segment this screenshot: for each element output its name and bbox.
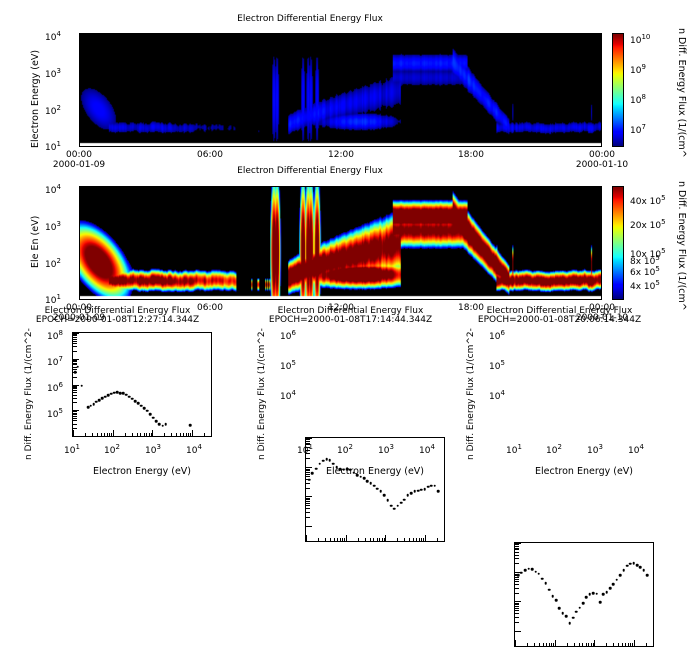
mid-ytick-1-base: 10: [45, 296, 56, 306]
data-point: [561, 612, 564, 615]
bottom-left-xtick-2: 102: [104, 443, 120, 456]
bottom-right-xtick-2: 102: [546, 443, 562, 456]
bottom-right-xtick-4: 104: [628, 443, 644, 456]
y-minor-tick: [73, 392, 77, 393]
mid-colorbar-label: n Diff. Energy Flux (1/(cm^: [676, 181, 687, 311]
top-colorbar[interactable]: [612, 33, 624, 147]
top-panel-title: Electron Differential Energy Flux: [0, 14, 620, 24]
x-minor-tick: [591, 643, 592, 647]
bl-xt3-exp: 3: [156, 443, 160, 451]
x-minor-tick: [397, 538, 398, 542]
top-cb-t3-exp: 9: [641, 63, 645, 71]
x-minor-tick: [419, 538, 420, 542]
top-ytick-1: 101: [45, 140, 61, 153]
bottom-center-xtick-3: 103: [378, 443, 394, 456]
bottom-center-ytick-6: 105: [280, 359, 296, 372]
mid-ytick-1: 101: [45, 293, 61, 306]
bottom-left-subtitle: EPOCH=2000-01-08T12:27:14.344Z: [10, 315, 225, 325]
y-minor-tick: [73, 428, 77, 429]
data-point: [589, 593, 592, 596]
mid-colorbar-tick-4: 4x 105: [630, 279, 660, 292]
x-minor-tick: [606, 643, 607, 647]
data-point: [164, 423, 167, 426]
mid-ytick-2: 102: [45, 257, 61, 270]
bottom-right-ylabel: n Diff. Energy Flux (1/(cm^2-: [466, 328, 476, 460]
top-cb-t3-base: 10: [630, 66, 641, 76]
x-minor-tick: [337, 538, 338, 542]
data-point: [531, 568, 534, 571]
top-ytick-3-exp: 3: [56, 67, 60, 75]
top-ytick-3-base: 10: [45, 70, 56, 80]
bottom-right-xtick-1: 101: [506, 443, 522, 456]
data-point: [616, 578, 619, 581]
br-xt3-base: 10: [587, 446, 598, 456]
top-colorbar-label-wrap: n Diff. Energy Flux (1/(cm^: [687, 28, 697, 39]
bc-yt1-base: 10: [280, 392, 291, 402]
data-point: [582, 602, 585, 605]
bottom-left-xtick-3: 103: [145, 443, 161, 456]
bottom-right-ytick-6: 105: [489, 359, 505, 372]
mid-cb-t3-exp: 5: [655, 254, 659, 262]
data-point: [390, 504, 393, 507]
bottom-center-subtitle: EPOCH=2000-01-08T17:14:44.344Z: [243, 315, 458, 325]
x-minor-tick: [409, 538, 410, 542]
bl-yt2-base: 10: [47, 384, 58, 394]
x-minor-tick: [582, 643, 583, 647]
data-point: [646, 574, 649, 577]
data-point: [568, 622, 571, 625]
y-minor-tick: [515, 593, 519, 594]
bottom-center-ylabel: n Diff. Energy Flux (1/(cm^2-: [257, 328, 267, 460]
x-minor-tick: [586, 643, 587, 647]
y-minor-tick: [73, 385, 79, 386]
y-minor-tick: [306, 505, 310, 506]
data-point: [420, 488, 423, 491]
y-minor-tick: [306, 503, 310, 504]
br-xt2-exp: 2: [557, 443, 561, 451]
mid-cb-t6-base: 40x 10: [630, 197, 661, 207]
bl-yt1-exp: 5: [58, 407, 62, 415]
data-point: [534, 570, 537, 573]
y-minor-tick: [306, 458, 310, 459]
data-point: [308, 478, 311, 481]
data-point: [380, 490, 383, 493]
y-minor-tick: [515, 546, 519, 547]
br-xt1-exp: 1: [517, 443, 521, 451]
mid-ytick-3-exp: 3: [56, 220, 60, 228]
y-minor-tick: [73, 398, 77, 399]
x-minor-tick: [330, 538, 331, 542]
x-minor-tick: [546, 643, 547, 647]
data-point: [555, 599, 558, 602]
bottom-center-xtick-4: 104: [419, 443, 435, 456]
y-minor-tick: [515, 613, 519, 614]
bottom-left-xtick-1: 101: [64, 443, 80, 456]
data-point: [602, 593, 605, 596]
x-minor-tick: [444, 538, 445, 542]
data-point: [572, 616, 575, 619]
x-minor-tick: [634, 640, 635, 646]
bl-yt1-base: 10: [47, 410, 58, 420]
y-minor-tick: [306, 441, 310, 442]
bc-xt1-base: 10: [297, 446, 308, 456]
x-minor-tick: [346, 535, 347, 541]
data-point: [585, 596, 588, 599]
x-minor-tick: [144, 433, 145, 437]
bc-yt2-base: 10: [280, 362, 291, 372]
data-point: [565, 615, 568, 618]
bottom-center-xtick-2: 102: [337, 443, 353, 456]
top-cb-t4-base: 10: [630, 36, 641, 46]
top-spectrogram-plot[interactable]: [79, 33, 602, 147]
y-minor-tick: [515, 577, 519, 578]
x-minor-tick: [171, 433, 172, 437]
mid-cb-t5-base: 20x 10: [630, 221, 661, 231]
y-minor-tick: [73, 369, 77, 370]
y-minor-tick: [306, 498, 310, 499]
x-minor-tick: [137, 433, 138, 437]
data-point: [545, 582, 548, 585]
top-ytick-1-base: 10: [45, 143, 56, 153]
bl-xt4-base: 10: [186, 446, 197, 456]
x-minor-tick: [318, 538, 319, 542]
x-minor-tick: [534, 643, 535, 647]
data-point: [376, 487, 379, 490]
y-minor-tick: [515, 606, 519, 607]
y-minor-tick: [73, 424, 77, 425]
mid-cb-t6-exp: 5: [661, 194, 665, 202]
x-minor-tick: [180, 433, 181, 437]
bc-xt3-base: 10: [378, 446, 389, 456]
bottom-right-xtick-3: 103: [587, 443, 603, 456]
figure-canvas: Electron Differential Energy Flux Electr…: [0, 0, 697, 492]
data-point: [605, 591, 608, 594]
data-point: [527, 568, 530, 571]
data-point: [517, 574, 520, 577]
y-minor-tick: [73, 337, 77, 338]
x-minor-tick: [404, 538, 405, 542]
bottom-right-xlabel: Electron Energy (eV): [514, 466, 654, 477]
data-point: [599, 601, 602, 604]
x-minor-tick: [365, 538, 366, 542]
x-minor-tick: [192, 430, 193, 436]
data-point: [643, 569, 646, 572]
mid-spectrogram-plot[interactable]: [79, 186, 602, 300]
top-xtick-5: 00:00: [589, 150, 615, 160]
mid-panel-title: Electron Differential Energy Flux: [0, 166, 620, 176]
data-point: [520, 572, 523, 575]
x-minor-tick: [567, 643, 568, 647]
bc-xt2-base: 10: [337, 446, 348, 456]
y-minor-tick: [306, 496, 312, 497]
x-minor-tick: [101, 433, 102, 437]
top-xtick-1: 00:00: [66, 150, 92, 160]
y-minor-tick: [515, 601, 521, 602]
bottom-right-plot[interactable]: [514, 542, 654, 647]
x-minor-tick: [574, 643, 575, 647]
y-minor-tick: [515, 603, 519, 604]
data-point: [413, 490, 416, 493]
data-point: [332, 463, 335, 466]
y-minor-tick: [515, 608, 519, 609]
bottom-left-ytick-8: 108: [47, 329, 63, 342]
x-minor-tick: [543, 643, 544, 647]
x-minor-tick: [646, 643, 647, 647]
data-point: [373, 485, 376, 488]
data-point: [609, 587, 612, 590]
y-minor-tick: [73, 395, 77, 396]
y-minor-tick: [73, 343, 77, 344]
x-minor-tick: [104, 433, 105, 437]
data-point: [363, 477, 366, 480]
data-point: [152, 416, 155, 419]
bl-xt1-base: 10: [64, 446, 75, 456]
bottom-left-ytick-5: 105: [47, 407, 63, 420]
data-point: [80, 384, 83, 387]
top-colorbar-tick-2: 108: [630, 93, 646, 106]
mid-ytick-3-base: 10: [45, 223, 56, 233]
y-minor-tick: [515, 558, 519, 559]
data-point: [632, 562, 635, 565]
y-minor-tick: [306, 483, 310, 484]
bc-xt4-exp: 4: [430, 443, 434, 451]
y-minor-tick: [73, 386, 77, 387]
bottom-left-plot[interactable]: [72, 332, 212, 437]
br-xt4-exp: 4: [639, 443, 643, 451]
data-point: [558, 607, 561, 610]
y-minor-tick: [306, 488, 310, 489]
x-minor-tick: [625, 643, 626, 647]
data-point: [189, 424, 192, 427]
top-xtick-2: 06:00: [197, 150, 223, 160]
data-point: [430, 485, 433, 488]
x-minor-tick: [373, 538, 374, 542]
y-minor-tick: [73, 346, 77, 347]
y-minor-tick: [515, 549, 519, 550]
data-point: [578, 606, 581, 609]
x-minor-tick: [211, 433, 212, 437]
mid-ytick-1-exp: 1: [56, 293, 60, 301]
mid-colorbar[interactable]: [612, 186, 624, 300]
data-point: [524, 569, 527, 572]
x-minor-tick: [125, 433, 126, 437]
x-minor-tick: [613, 643, 614, 647]
x-minor-tick: [188, 433, 189, 437]
bottom-right-ytick-7: 106: [489, 329, 505, 342]
y-minor-tick: [515, 579, 519, 580]
y-minor-tick: [515, 548, 519, 549]
y-minor-tick: [306, 501, 310, 502]
y-minor-tick: [73, 418, 77, 419]
y-minor-tick: [73, 351, 77, 352]
x-minor-tick: [370, 538, 371, 542]
data-point: [383, 494, 386, 497]
x-minor-tick: [618, 643, 619, 647]
y-minor-tick: [515, 604, 519, 605]
y-minor-tick: [73, 402, 77, 403]
x-minor-tick: [183, 433, 184, 437]
mid-cb-t5-exp: 5: [661, 218, 665, 226]
x-minor-tick: [551, 643, 552, 647]
data-point: [74, 371, 77, 374]
data-point: [595, 592, 598, 595]
bl-yt3-base: 10: [47, 358, 58, 368]
br-xt3-exp: 3: [598, 443, 602, 451]
mid-cb-t2-base: 6x 10: [630, 268, 655, 278]
bl-yt4-base: 10: [47, 332, 58, 342]
x-minor-tick: [413, 538, 414, 542]
br-xt1-base: 10: [506, 446, 517, 456]
data-point: [366, 480, 369, 483]
x-minor-tick: [176, 433, 177, 437]
top-xtick-3: 12:00: [328, 150, 354, 160]
bl-xt2-base: 10: [104, 446, 115, 456]
x-minor-tick: [630, 643, 631, 647]
mid-ytick-2-base: 10: [45, 260, 56, 270]
x-minor-tick: [515, 640, 516, 646]
mid-cb-t1-exp: 5: [655, 279, 659, 287]
top-cb-t2-base: 10: [630, 96, 641, 106]
data-point: [639, 566, 642, 569]
y-minor-tick: [515, 617, 519, 618]
y-minor-tick: [515, 544, 519, 545]
x-minor-tick: [385, 535, 386, 541]
x-minor-tick: [85, 433, 86, 437]
y-minor-tick: [73, 413, 77, 414]
bl-xt2-exp: 2: [115, 443, 119, 451]
mid-colorbar-tick-6: 6x 105: [630, 265, 660, 278]
data-point: [400, 501, 403, 504]
mid-cb-t4-exp: 5: [661, 247, 665, 255]
x-minor-tick: [527, 643, 528, 647]
y-minor-tick: [73, 339, 77, 340]
top-panel-ylabel: Electron Energy (eV): [30, 50, 41, 148]
bc-xt3-exp: 3: [389, 443, 393, 451]
bl-yt3-exp: 7: [58, 355, 62, 363]
x-minor-tick: [628, 643, 629, 647]
y-minor-tick: [515, 581, 519, 582]
y-minor-tick: [73, 361, 77, 362]
y-minor-tick: [515, 622, 519, 623]
data-point: [427, 485, 430, 488]
y-minor-tick: [515, 584, 519, 585]
x-minor-tick: [107, 433, 108, 437]
y-minor-tick: [73, 335, 77, 336]
mid-cb-t2-exp: 5: [655, 265, 659, 273]
y-minor-tick: [73, 414, 77, 415]
bottom-right-subtitle: EPOCH=2000-01-08T20:06:14.344Z: [452, 315, 667, 325]
data-point: [551, 595, 554, 598]
x-minor-tick: [416, 538, 417, 542]
br-yt3-exp: 6: [500, 329, 504, 337]
data-point: [619, 574, 622, 577]
bc-xt2-exp: 2: [348, 443, 352, 451]
x-minor-tick: [539, 643, 540, 647]
br-xt2-base: 10: [546, 446, 557, 456]
x-minor-tick: [113, 430, 114, 436]
top-ytick-3: 103: [45, 67, 61, 80]
y-minor-tick: [306, 517, 310, 518]
y-minor-tick: [515, 552, 519, 553]
data-point: [318, 463, 321, 466]
x-minor-tick: [140, 433, 141, 437]
y-minor-tick: [73, 420, 77, 421]
mid-panel-ylabel: Ele En (eV): [30, 216, 41, 268]
bottom-right-ytick-5: 104: [489, 389, 505, 402]
data-point: [325, 458, 328, 461]
bl-yt2-exp: 6: [58, 381, 62, 389]
top-ytick-2: 102: [45, 104, 61, 117]
y-minor-tick: [515, 610, 519, 611]
bl-xt4-exp: 4: [197, 443, 201, 451]
x-minor-tick: [379, 538, 380, 542]
bottom-left-xtick-4: 104: [186, 443, 202, 456]
y-minor-tick: [306, 526, 312, 527]
mid-ytick-4: 104: [45, 183, 61, 196]
bottom-left-xlabel: Electron Energy (eV): [72, 466, 212, 477]
x-minor-tick: [325, 538, 326, 542]
data-point: [369, 482, 372, 485]
x-minor-tick: [152, 430, 153, 436]
y-minor-tick: [515, 631, 521, 632]
bottom-center-ytick-7: 106: [280, 329, 296, 342]
data-point: [626, 565, 629, 568]
x-minor-tick: [109, 433, 110, 437]
x-minor-tick: [549, 643, 550, 647]
bc-yt3-exp: 6: [291, 329, 295, 337]
x-minor-tick: [149, 433, 150, 437]
y-minor-tick: [73, 359, 79, 360]
top-cb-t1-base: 10: [630, 126, 641, 136]
y-minor-tick: [515, 543, 521, 544]
data-point: [393, 507, 396, 510]
data-point: [538, 573, 541, 576]
x-minor-tick: [653, 643, 654, 647]
br-yt3-base: 10: [489, 332, 500, 342]
br-yt1-exp: 4: [500, 389, 504, 397]
data-point: [592, 592, 595, 595]
x-minor-tick: [164, 433, 165, 437]
top-colorbar-label: n Diff. Energy Flux (1/(cm^: [676, 28, 687, 158]
x-minor-tick: [340, 538, 341, 542]
mid-ytick-4-exp: 4: [56, 183, 60, 191]
br-yt2-base: 10: [489, 362, 500, 372]
bc-yt3-base: 10: [280, 332, 291, 342]
x-minor-tick: [588, 643, 589, 647]
x-minor-tick: [555, 640, 556, 646]
bl-xt3-base: 10: [145, 446, 156, 456]
x-minor-tick: [334, 538, 335, 542]
top-colorbar-tick-3: 109: [630, 63, 646, 76]
bc-yt2-exp: 5: [291, 359, 295, 367]
x-minor-tick: [425, 535, 426, 541]
y-minor-tick: [515, 555, 519, 556]
y-minor-tick: [73, 410, 79, 411]
data-point: [423, 488, 426, 491]
data-point: [322, 460, 325, 463]
bottom-center-ytick-5: 104: [280, 389, 296, 402]
x-minor-tick: [622, 643, 623, 647]
bc-xt1-exp: 1: [308, 443, 312, 451]
top-ytick-2-exp: 2: [56, 104, 60, 112]
y-minor-tick: [306, 512, 310, 513]
bottom-left-ytick-7: 107: [47, 355, 63, 368]
x-minor-tick: [342, 538, 343, 542]
x-minor-tick: [437, 538, 438, 542]
data-point: [612, 583, 615, 586]
y-minor-tick: [73, 363, 77, 364]
top-ytick-4: 104: [45, 30, 61, 43]
